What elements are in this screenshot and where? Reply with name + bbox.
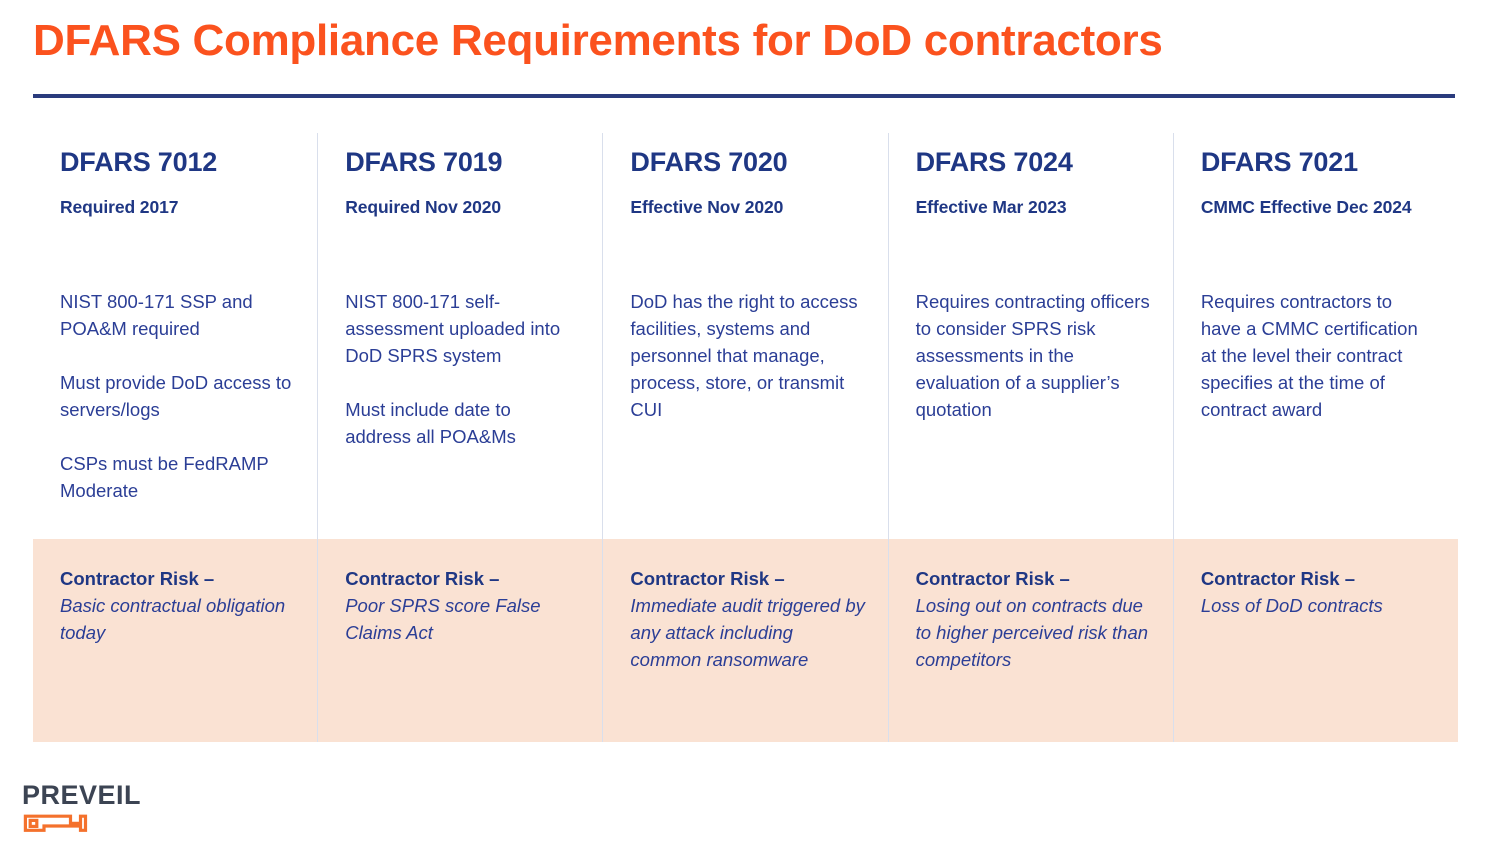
column-points-7012: NIST 800-171 SSP and POA&M required Must… (60, 288, 295, 504)
column-upper-7019: DFARS 7019 Required Nov 2020 NIST 800-17… (318, 133, 602, 539)
column-dfars-7020: DFARS 7020 Effective Nov 2020 DoD has th… (602, 133, 887, 742)
column-points-7020: DoD has the right to access facilities, … (630, 288, 865, 423)
title-underline-rule (33, 94, 1455, 98)
risk-label: Contractor Risk – (60, 565, 295, 592)
risk-label: Contractor Risk – (916, 565, 1151, 592)
column-code-7024: DFARS 7024 (916, 146, 1151, 178)
dfars-requirements-table: DFARS 7012 Required 2017 NIST 800-171 SS… (33, 133, 1458, 742)
point-item: Must include date to address all POA&Ms (345, 396, 580, 450)
point-item: DoD has the right to access facilities, … (630, 288, 865, 423)
point-item: Requires contracting officers to conside… (916, 288, 1151, 423)
risk-cell-7024: Contractor Risk – Losing out on contract… (889, 539, 1173, 742)
column-upper-7021: DFARS 7021 CMMC Effective Dec 2024 Requi… (1174, 133, 1458, 539)
point-item: NIST 800-171 SSP and POA&M required (60, 288, 295, 342)
column-dfars-7024: DFARS 7024 Effective Mar 2023 Requires c… (888, 133, 1173, 742)
column-upper-7020: DFARS 7020 Effective Nov 2020 DoD has th… (603, 133, 887, 539)
column-dfars-7021: DFARS 7021 CMMC Effective Dec 2024 Requi… (1173, 133, 1458, 742)
point-item: NIST 800-171 self-assessment uploaded in… (345, 288, 580, 369)
column-date-7021: CMMC Effective Dec 2024 (1201, 196, 1436, 218)
column-upper-7012: DFARS 7012 Required 2017 NIST 800-171 SS… (33, 133, 317, 539)
risk-text: Loss of DoD contracts (1201, 592, 1436, 619)
risk-cell-7012: Contractor Risk – Basic contractual obli… (33, 539, 317, 742)
preveil-logo: PREVEIL (22, 781, 192, 837)
column-code-7021: DFARS 7021 (1201, 146, 1436, 178)
risk-cell-7021: Contractor Risk – Loss of DoD contracts (1174, 539, 1458, 742)
column-points-7021: Requires contractors to have a CMMC cert… (1201, 288, 1436, 423)
point-item: Must provide DoD access to servers/logs (60, 369, 295, 423)
risk-text: Losing out on contracts due to higher pe… (916, 592, 1151, 673)
column-code-7020: DFARS 7020 (630, 146, 865, 178)
column-points-7024: Requires contracting officers to conside… (916, 288, 1151, 423)
risk-label: Contractor Risk – (630, 565, 865, 592)
point-item: Requires contractors to have a CMMC cert… (1201, 288, 1436, 423)
column-date-7024: Effective Mar 2023 (916, 196, 1151, 218)
risk-text: Immediate audit triggered by any attack … (630, 592, 865, 673)
risk-label: Contractor Risk – (1201, 565, 1436, 592)
risk-cell-7020: Contractor Risk – Immediate audit trigge… (603, 539, 887, 742)
column-date-7020: Effective Nov 2020 (630, 196, 865, 218)
column-points-7019: NIST 800-171 self-assessment uploaded in… (345, 288, 580, 450)
page-title: DFARS Compliance Requirements for DoD co… (33, 15, 1453, 67)
column-dfars-7019: DFARS 7019 Required Nov 2020 NIST 800-17… (317, 133, 602, 742)
risk-label: Contractor Risk – (345, 565, 580, 592)
key-icon (22, 813, 88, 834)
risk-cell-7019: Contractor Risk – Poor SPRS score False … (318, 539, 602, 742)
risk-text: Basic contractual obligation today (60, 592, 295, 646)
risk-text: Poor SPRS score False Claims Act (345, 592, 580, 646)
column-code-7012: DFARS 7012 (60, 146, 295, 178)
column-dfars-7012: DFARS 7012 Required 2017 NIST 800-171 SS… (33, 133, 317, 742)
point-item: CSPs must be FedRAMP Moderate (60, 450, 295, 504)
slide-canvas: DFARS Compliance Requirements for DoD co… (0, 0, 1500, 844)
column-date-7019: Required Nov 2020 (345, 196, 580, 218)
logo-wordmark: PREVEIL (22, 781, 192, 809)
column-upper-7024: DFARS 7024 Effective Mar 2023 Requires c… (889, 133, 1173, 539)
column-code-7019: DFARS 7019 (345, 146, 580, 178)
column-date-7012: Required 2017 (60, 196, 295, 218)
